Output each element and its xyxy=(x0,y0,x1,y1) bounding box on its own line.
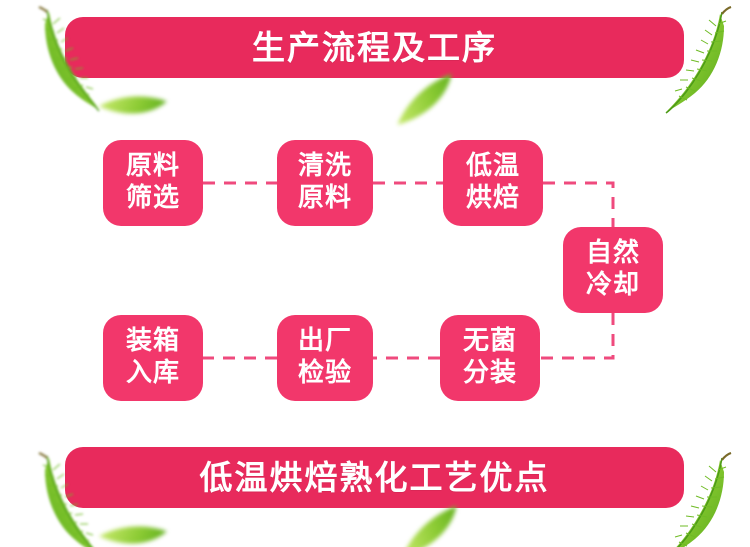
connector-cooling-to-sterile xyxy=(540,313,613,358)
flow-node-line: 烘焙 xyxy=(466,183,520,215)
flow-node-factory-inspection[interactable]: 出厂 检验 xyxy=(277,315,373,401)
flow-node-sterile-packing[interactable]: 无菌 分装 xyxy=(440,315,540,401)
top-banner-title: 生产流程及工序 xyxy=(65,17,684,78)
flow-node-wash-raw-material[interactable]: 清洗 原料 xyxy=(277,140,373,226)
flow-node-boxing-warehousing[interactable]: 装箱 入库 xyxy=(103,315,203,401)
bottom-banner: 低温烘焙熟化工艺优点 xyxy=(65,447,684,508)
flow-node-line: 入库 xyxy=(126,358,180,390)
infographic-page: 原料 筛选 清洗 原料 低温 烘焙 自然 冷却 无菌 分装 出厂 检验 装箱 入… xyxy=(0,0,750,547)
flow-node-line: 装箱 xyxy=(126,326,180,358)
flow-node-line: 筛选 xyxy=(126,183,180,215)
flow-node-line: 原料 xyxy=(298,183,352,215)
flow-node-raw-material-screening[interactable]: 原料 筛选 xyxy=(103,140,203,226)
flow-node-natural-cooling[interactable]: 自然 冷却 xyxy=(563,227,663,313)
flow-node-low-temp-baking[interactable]: 低温 烘焙 xyxy=(443,140,543,226)
flow-node-line: 自然 xyxy=(586,238,640,270)
connector-baking-to-cooling xyxy=(543,183,613,227)
top-banner: 生产流程及工序 xyxy=(65,17,684,78)
flow-node-line: 检验 xyxy=(298,358,352,390)
flow-node-line: 原料 xyxy=(126,151,180,183)
flow-node-line: 低温 xyxy=(466,151,520,183)
flow-node-line: 出厂 xyxy=(298,326,352,358)
flow-node-line: 分装 xyxy=(463,358,517,390)
bottom-banner-title: 低温烘焙熟化工艺优点 xyxy=(65,447,684,508)
flow-node-line: 清洗 xyxy=(298,151,352,183)
flow-node-line: 冷却 xyxy=(586,270,640,302)
flow-node-line: 无菌 xyxy=(463,326,517,358)
